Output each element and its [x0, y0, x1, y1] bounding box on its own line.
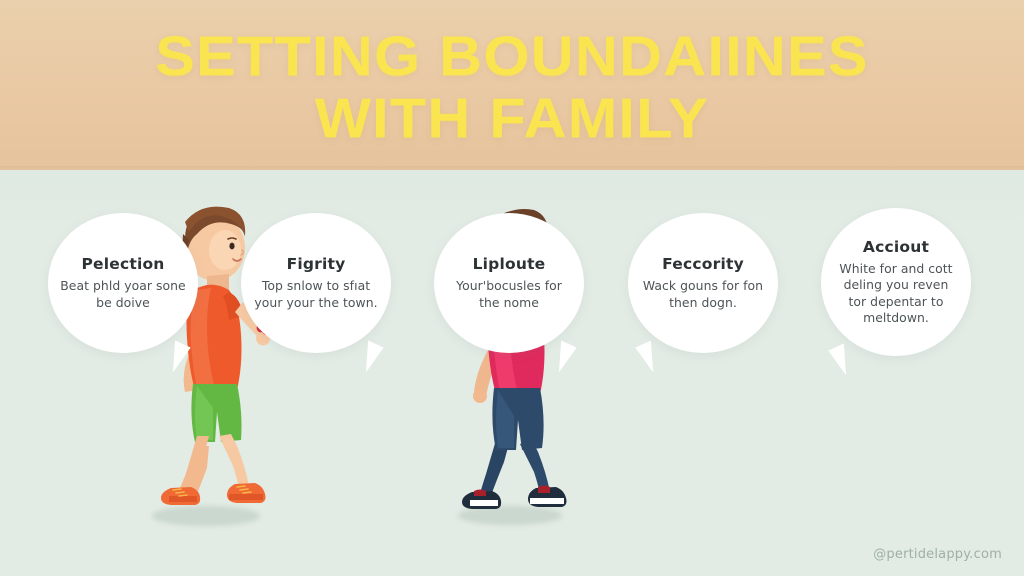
infographic-canvas: SETTING BOUNDAIINES WITH FAMILY	[0, 0, 1024, 576]
speech-bubble-5[interactable]: Acciout White for and cott deling you re…	[821, 208, 971, 356]
bubble-title: Figrity	[287, 255, 346, 273]
illustration-stage: Pelection Beat phld yoar sone be doive F…	[0, 170, 1024, 576]
bubble-tail-icon	[559, 340, 577, 373]
title-line-1: SETTING BOUNDAIINES	[0, 26, 1024, 86]
bubble-body: Your'bocusles for the nome	[446, 278, 572, 311]
header-band: SETTING BOUNDAIINES WITH FAMILY	[0, 0, 1024, 170]
title-line-2: WITH FAMILY	[0, 88, 1024, 148]
bubble-body: Top snlow to sfıat your your the town.	[253, 278, 379, 311]
bubble-tail-icon	[173, 340, 191, 373]
speech-bubble-3[interactable]: Liploute Your'bocusles for the nome	[434, 213, 584, 353]
bubble-body: White for and cott deling you reven tor …	[833, 261, 959, 327]
speech-bubble-2[interactable]: Figrity Top snlow to sfıat your your the…	[241, 213, 391, 353]
page-title: SETTING BOUNDAIINES WITH FAMILY	[0, 26, 1024, 148]
bubble-body: Beat phld yoar sone be doive	[60, 278, 186, 311]
speech-bubble-1[interactable]: Pelection Beat phld yoar sone be doive	[48, 213, 198, 353]
bubble-tail-icon	[635, 340, 653, 373]
watermark: @pertidelappy.com	[873, 547, 1002, 562]
bubble-tail-icon	[828, 343, 846, 376]
bubble-title: Acciout	[863, 238, 929, 256]
bubble-title: Feccority	[662, 255, 744, 273]
bubble-title: Pelection	[81, 255, 164, 273]
speech-bubble-4[interactable]: Feccority Wack gouns for fon then dogn.	[628, 213, 778, 353]
bubble-title: Liploute	[473, 255, 546, 273]
bubble-body: Wack gouns for fon then dogn.	[640, 278, 766, 311]
bubble-tail-icon	[366, 340, 384, 373]
